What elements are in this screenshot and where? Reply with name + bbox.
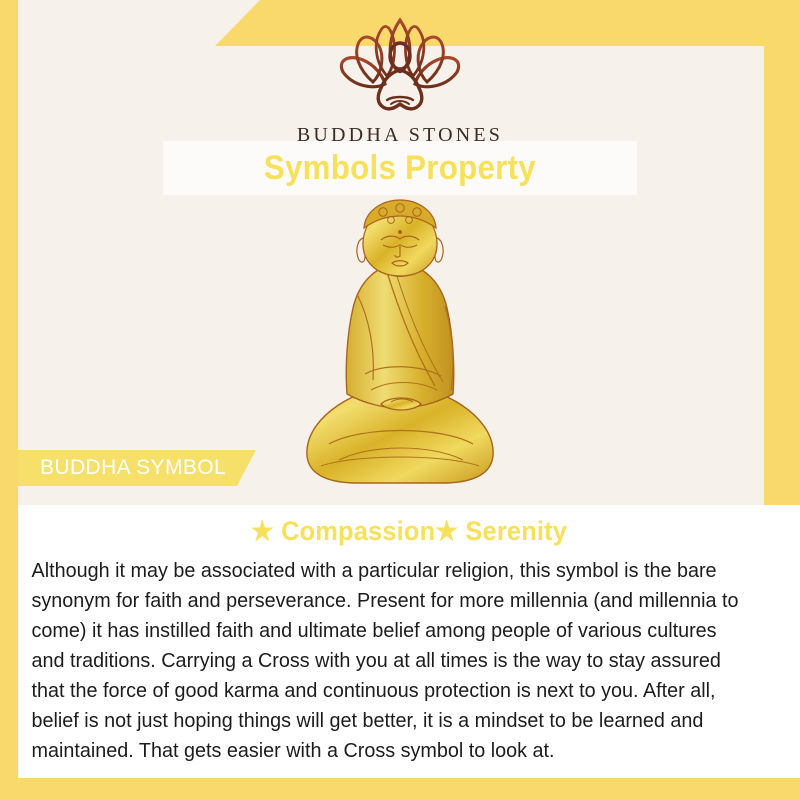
section-ribbon: BUDDHA SYMBOL <box>18 450 256 486</box>
title-banner: Symbols Property <box>163 141 637 195</box>
content-panel: ★ Compassion★ Serenity Although it may b… <box>18 505 800 778</box>
poster-root: BUDDHA STONES Symbols Property <box>0 0 800 800</box>
decorative-band-bottom <box>0 778 800 800</box>
content-subtitle: ★ Compassion★ Serenity <box>41 505 776 547</box>
ribbon-label: BUDDHA SYMBOL <box>18 456 226 480</box>
content-paragraph: Although it may be associated with a par… <box>18 547 761 766</box>
header: BUDDHA STONES <box>0 16 800 147</box>
seated-golden-buddha-illustration <box>295 198 505 490</box>
lotus-meditation-icon <box>315 16 485 120</box>
page-title: Symbols Property <box>264 149 536 188</box>
